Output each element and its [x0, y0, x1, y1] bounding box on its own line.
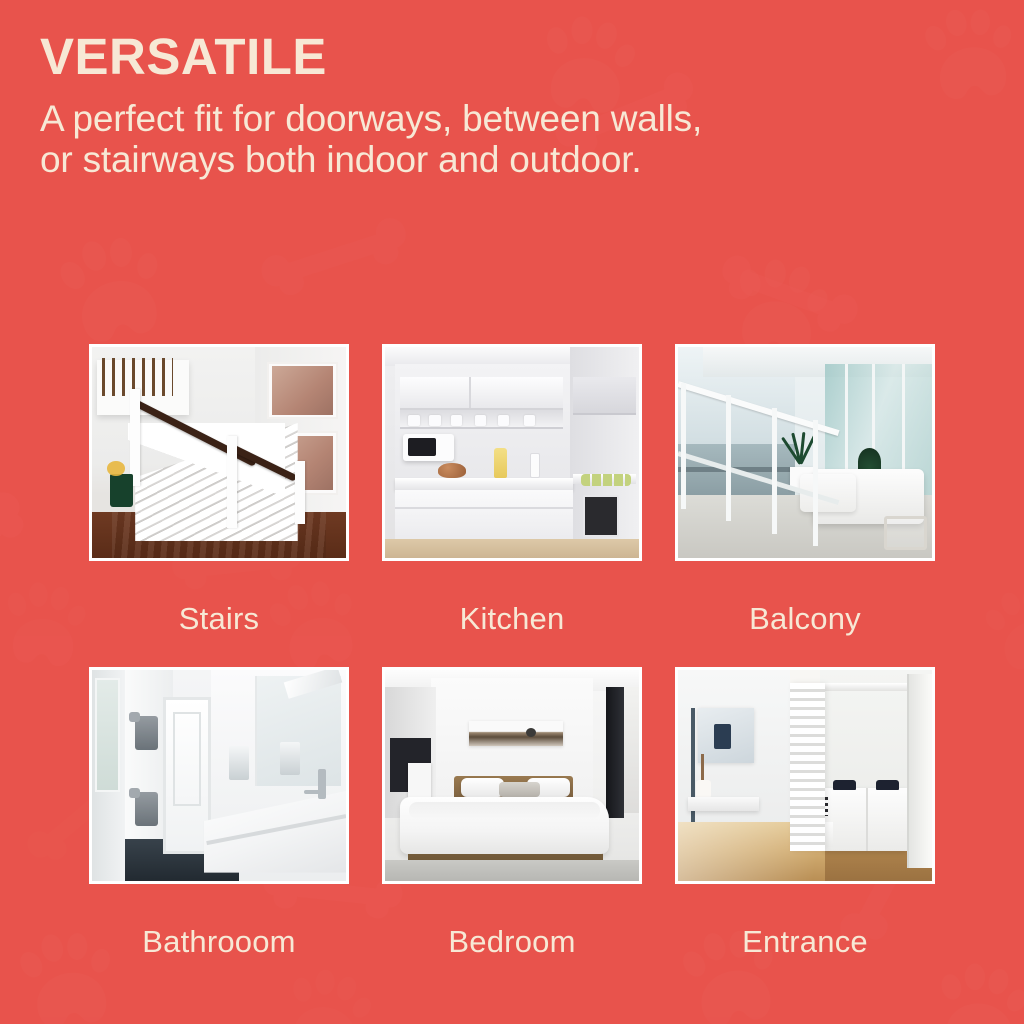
room-label: Stairs [89, 561, 349, 667]
room-photo-frame [382, 344, 642, 561]
bone-icon [257, 214, 413, 302]
room-photo-balcony [678, 347, 932, 558]
paw-print-icon [930, 958, 1024, 1024]
subtitle-line-1: A perfect fit for doorways, between wall… [40, 98, 940, 139]
room-card: Balcony [675, 344, 935, 667]
room-photo-kitchen [385, 347, 639, 558]
room-photo-bed [385, 670, 639, 881]
room-label: Bathrooom [89, 884, 349, 990]
room-label: Entrance [675, 884, 935, 990]
room-card: Stairs [89, 344, 349, 667]
paw-print-icon [51, 227, 175, 349]
room-card: Kitchen [382, 344, 642, 667]
room-label: Bedroom [382, 884, 642, 990]
poster-canvas: VERSATILE A perfect fit for doorways, be… [0, 0, 1024, 1024]
room-photo-frame [89, 667, 349, 884]
room-label: Balcony [675, 561, 935, 667]
bone-icon [714, 251, 862, 339]
room-card: Entrance [675, 667, 935, 990]
page-title: VERSATILE [40, 30, 940, 84]
room-label: Kitchen [382, 561, 642, 667]
page-subtitle: A perfect fit for doorways, between wall… [40, 98, 940, 181]
room-photo-bath [92, 670, 346, 881]
room-photo-ent [678, 670, 932, 881]
room-gallery-grid: Stairs Kitchen [89, 344, 935, 990]
room-photo-stairs [92, 347, 346, 558]
room-photo-frame [675, 667, 935, 884]
room-card: Bedroom [382, 667, 642, 990]
room-card: Bathrooom [89, 667, 349, 990]
paw-print-icon [0, 578, 91, 669]
room-photo-frame [382, 667, 642, 884]
poster-header: VERSATILE A perfect fit for doorways, be… [40, 30, 940, 180]
subtitle-line-2: or stairways both indoor and outdoor. [40, 139, 940, 180]
paw-print-icon [977, 578, 1024, 676]
room-photo-frame [89, 344, 349, 561]
bone-icon [0, 486, 36, 633]
room-photo-frame [675, 344, 935, 561]
